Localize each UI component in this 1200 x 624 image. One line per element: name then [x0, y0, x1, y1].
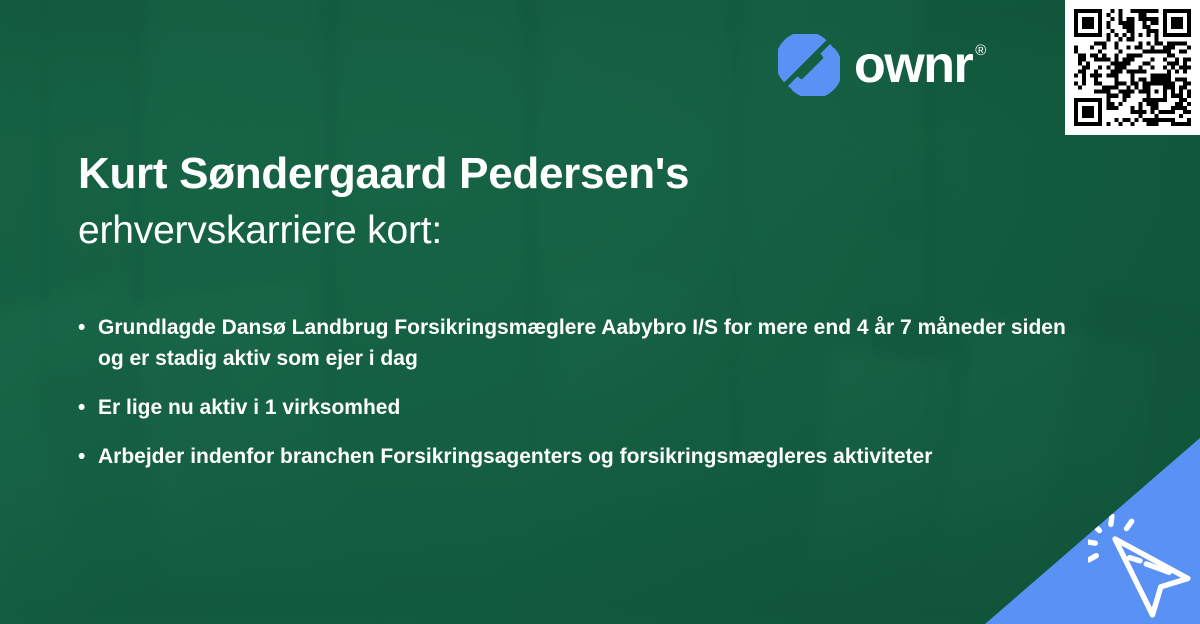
headline-line-2: erhvervskarriere kort: — [78, 207, 1058, 255]
page-title: Kurt Søndergaard Pedersen's erhvervskarr… — [78, 148, 1058, 255]
list-item: • Er lige nu aktiv i 1 virksomhed — [78, 392, 1068, 423]
ownr-logo[interactable]: ownr ® — [778, 34, 985, 96]
list-item-text: Arbejder indenfor branchen Forsikringsag… — [98, 441, 1068, 472]
qr-code[interactable] — [1065, 0, 1200, 135]
click-cursor-icon — [1088, 514, 1192, 618]
ownr-circular-swoosh-logo-icon — [778, 34, 840, 96]
bullet-dot-icon: • — [78, 441, 98, 472]
career-facts-list: • Grundlagde Dansø Landbrug Forsikringsm… — [78, 312, 1068, 490]
list-item-text: Er lige nu aktiv i 1 virksomhed — [98, 392, 1068, 423]
list-item: • Arbejder indenfor branchen Forsikrings… — [78, 441, 1068, 472]
bullet-dot-icon: • — [78, 312, 98, 343]
list-item: • Grundlagde Dansø Landbrug Forsikringsm… — [78, 312, 1068, 374]
registered-trademark-icon: ® — [975, 43, 985, 58]
qr-code-canvas — [1074, 9, 1191, 126]
list-item-text: Grundlagde Dansø Landbrug Forsikringsmæg… — [98, 312, 1068, 374]
ownr-wordmark: ownr ® — [854, 39, 985, 91]
bullet-dot-icon: • — [78, 392, 98, 423]
headline-line-1: Kurt Søndergaard Pedersen's — [78, 148, 1058, 199]
business-card-banner: ownr ® Kurt Søndergaard Pedersen's erhve… — [0, 0, 1200, 624]
ownr-wordmark-text: ownr — [854, 39, 972, 91]
